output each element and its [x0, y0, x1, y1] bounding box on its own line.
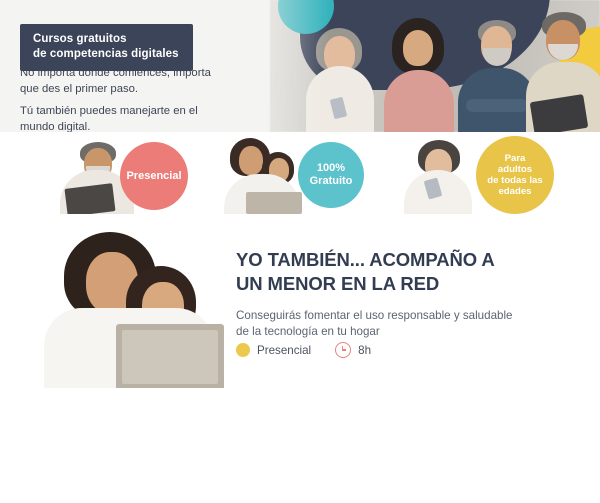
lede-line-3: Tú también puedes manejarte en el [20, 105, 198, 117]
course-subtitle-line-1: Conseguirás fomentar el uso responsable … [236, 309, 512, 322]
badge-adultos-text: Para adultos de todas las edades [487, 153, 542, 197]
strip-photo-woman-phone [400, 140, 476, 214]
badge-adultos-line-4: edades [498, 186, 531, 197]
lede-line-4: mundo digital. [20, 121, 90, 132]
lede-line-1: No importa dónde comiences, importa [20, 67, 211, 79]
main-section: YO TAMBIÉN... ACOMPAÑO A UN MENOR EN LA … [0, 214, 600, 390]
course-mode-label: Presencial [257, 344, 311, 357]
badge-presencial: Presencial [120, 142, 188, 210]
kicker-line-1: Cursos gratuitos [33, 32, 179, 47]
course-subtitle-line-2: de la tecnología en tu hogar [236, 325, 380, 338]
lede-paragraph-1: No importa dónde comiences, importa que … [20, 66, 248, 97]
kicker-line-2: de competencias digitales [33, 47, 179, 62]
badge-gratuito-line-1: 100% [317, 162, 345, 174]
mode-dot-icon [236, 343, 250, 357]
poster-root: Cursos gratuitos de competencias digital… [0, 0, 600, 503]
person-man-tablet [526, 12, 600, 132]
lede-paragraph-2: Tú también puedes manejarte en el mundo … [20, 104, 248, 132]
badge-adultos-line-2: adultos [498, 164, 532, 175]
badge-gratuito-line-2: Gratuito [310, 175, 353, 187]
strip-photo-mother-daughter [222, 138, 302, 214]
footer-section: Universidad Popular del Sur Ilustre Ayun… [0, 390, 600, 503]
lede-line-2: que des el primer paso. [20, 83, 138, 95]
course-title-line-2: UN MENOR EN LA RED [236, 273, 439, 294]
badge-presencial-label: Presencial [126, 170, 181, 183]
person-young-woman [378, 16, 458, 132]
badge-gratuito-text: 100% Gratuito [310, 162, 353, 187]
course-meta-row: Presencial 8h [236, 342, 371, 358]
kicker-badge: Cursos gratuitos de competencias digital… [20, 24, 193, 71]
course-title: YO TAMBIÉN... ACOMPAÑO A UN MENOR EN LA … [236, 248, 584, 296]
course-subtitle: Conseguirás fomentar el uso responsable … [236, 308, 584, 342]
clock-icon [335, 342, 351, 358]
badge-adultos: Para adultos de todas las edades [476, 136, 554, 214]
hero-band: Cursos gratuitos de competencias digital… [0, 0, 600, 132]
badge-gratuito: 100% Gratuito [298, 142, 364, 208]
course-photo-mother-daughter-laptop [38, 216, 224, 388]
badge-adultos-line-3: de todas las [487, 175, 542, 186]
badge-adultos-line-1: Para [505, 153, 526, 164]
hero-lede: No importa dónde comiences, importa que … [20, 66, 248, 132]
badge-strip: Presencial 100% Gratuito Para adultos de… [0, 132, 600, 214]
course-title-line-1: YO TAMBIÉN... ACOMPAÑO A [236, 249, 495, 270]
course-duration-label: 8h [358, 344, 371, 357]
